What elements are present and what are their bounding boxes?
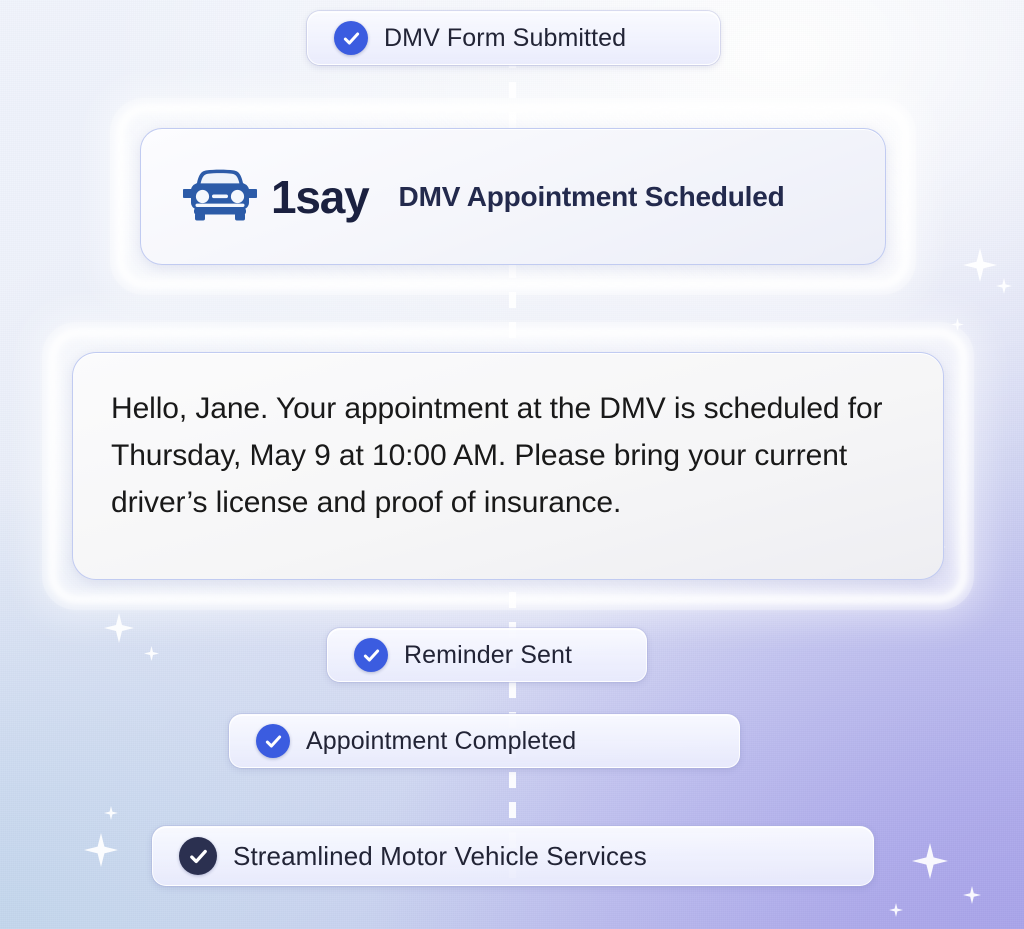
status-chip-label: Reminder Sent — [404, 641, 572, 670]
check-circle-icon — [334, 21, 368, 55]
header-card-glow-frame: 1say DMV Appointment Scheduled — [110, 98, 916, 295]
header-card: 1say DMV Appointment Scheduled — [140, 128, 886, 265]
sparkle-icon — [889, 903, 903, 917]
sparkle-icon — [963, 886, 981, 904]
check-circle-icon — [256, 724, 290, 758]
sparkle-icon — [144, 646, 159, 661]
sparkle-icon — [963, 248, 997, 282]
sparkle-icon — [104, 806, 118, 820]
sparkle-icon — [996, 278, 1012, 294]
car-icon — [183, 167, 257, 226]
status-chip-appointment-completed[interactable]: Appointment Completed — [229, 714, 740, 768]
status-chip-outcome[interactable]: Streamlined Motor Vehicle Services — [152, 826, 874, 886]
sparkle-icon — [912, 843, 948, 879]
sparkle-icon — [84, 833, 118, 867]
status-chip-label: DMV Form Submitted — [384, 24, 626, 53]
status-chip-reminder-sent[interactable]: Reminder Sent — [327, 628, 647, 682]
message-card: Hello, Jane. Your appointment at the DMV… — [72, 352, 944, 580]
sparkle-icon — [104, 613, 134, 643]
check-circle-icon — [354, 638, 388, 672]
status-chip-form-submitted[interactable]: DMV Form Submitted — [307, 11, 720, 65]
status-chip-label: Streamlined Motor Vehicle Services — [233, 841, 647, 872]
status-chip-label: Appointment Completed — [306, 727, 576, 756]
flow-canvas: DMV Form Submitted — [0, 0, 1024, 929]
header-card-title: DMV Appointment Scheduled — [399, 181, 785, 213]
brand-lockup: 1say — [183, 167, 369, 226]
brand-name: 1say — [271, 174, 369, 220]
message-body-text: Hello, Jane. Your appointment at the DMV… — [111, 385, 905, 526]
message-card-glow-frame: Hello, Jane. Your appointment at the DMV… — [42, 322, 974, 610]
check-circle-icon — [179, 837, 217, 875]
